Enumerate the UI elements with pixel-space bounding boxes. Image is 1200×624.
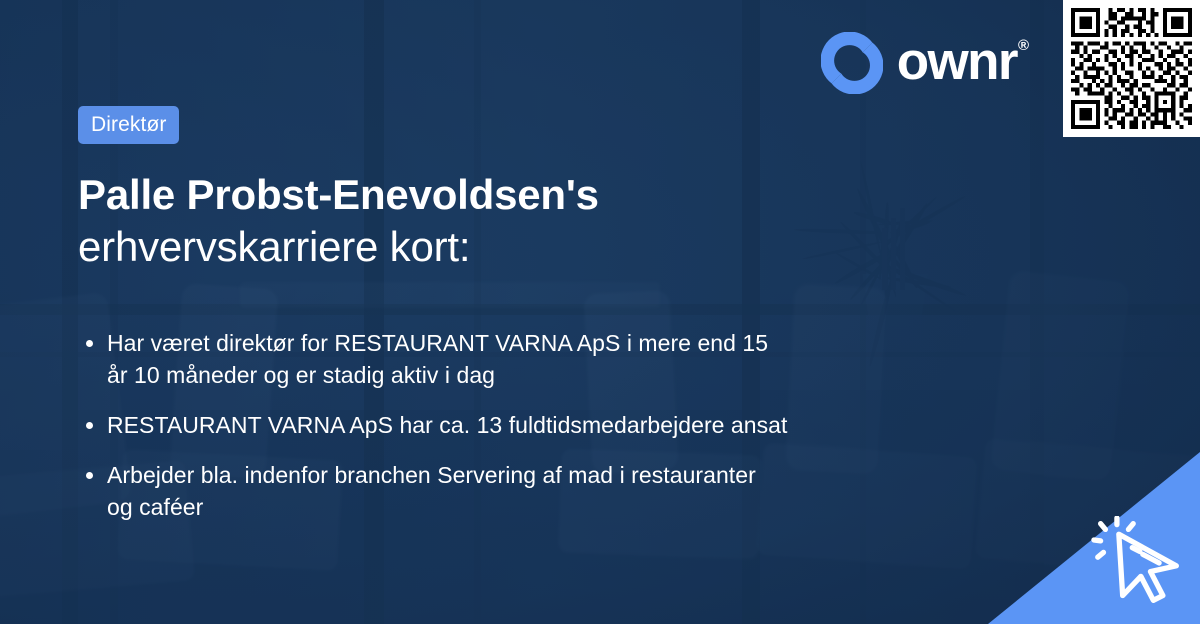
fact-line-2: år 10 måneder og er stadig aktiv i dag <box>107 359 978 391</box>
qr-code[interactable] <box>1063 0 1200 137</box>
fact-line-1: Arbejder bla. indenfor branchen Serverin… <box>107 462 756 488</box>
role-badge: Direktør <box>78 106 179 144</box>
fact-line-2: og caféer <box>107 491 978 523</box>
click-cursor-icon <box>1090 516 1186 608</box>
qr-code-image <box>1071 8 1192 129</box>
headline-line-1: Palle Probst-Enevoldsen's <box>78 169 1060 221</box>
headline-line-2: erhvervskarriere kort: <box>78 221 1060 273</box>
bullet-icon <box>86 422 93 429</box>
card-content: Direktør Palle Probst-Enevoldsen's erhve… <box>0 0 1060 624</box>
list-item: Arbejder bla. indenfor branchen Serverin… <box>78 459 978 523</box>
fact-line-1: RESTAURANT VARNA ApS har ca. 13 fuldtids… <box>107 412 787 438</box>
bullet-icon <box>86 472 93 479</box>
page-title: Palle Probst-Enevoldsen's erhvervskarrie… <box>78 169 1060 273</box>
list-item: RESTAURANT VARNA ApS har ca. 13 fuldtids… <box>78 409 978 441</box>
business-card: ownr® <box>0 0 1200 624</box>
fact-line-1: Har været direktør for RESTAURANT VARNA … <box>107 330 768 356</box>
facts-list: Har været direktør for RESTAURANT VARNA … <box>78 327 978 523</box>
list-item: Har været direktør for RESTAURANT VARNA … <box>78 327 978 391</box>
bullet-icon <box>86 340 93 347</box>
